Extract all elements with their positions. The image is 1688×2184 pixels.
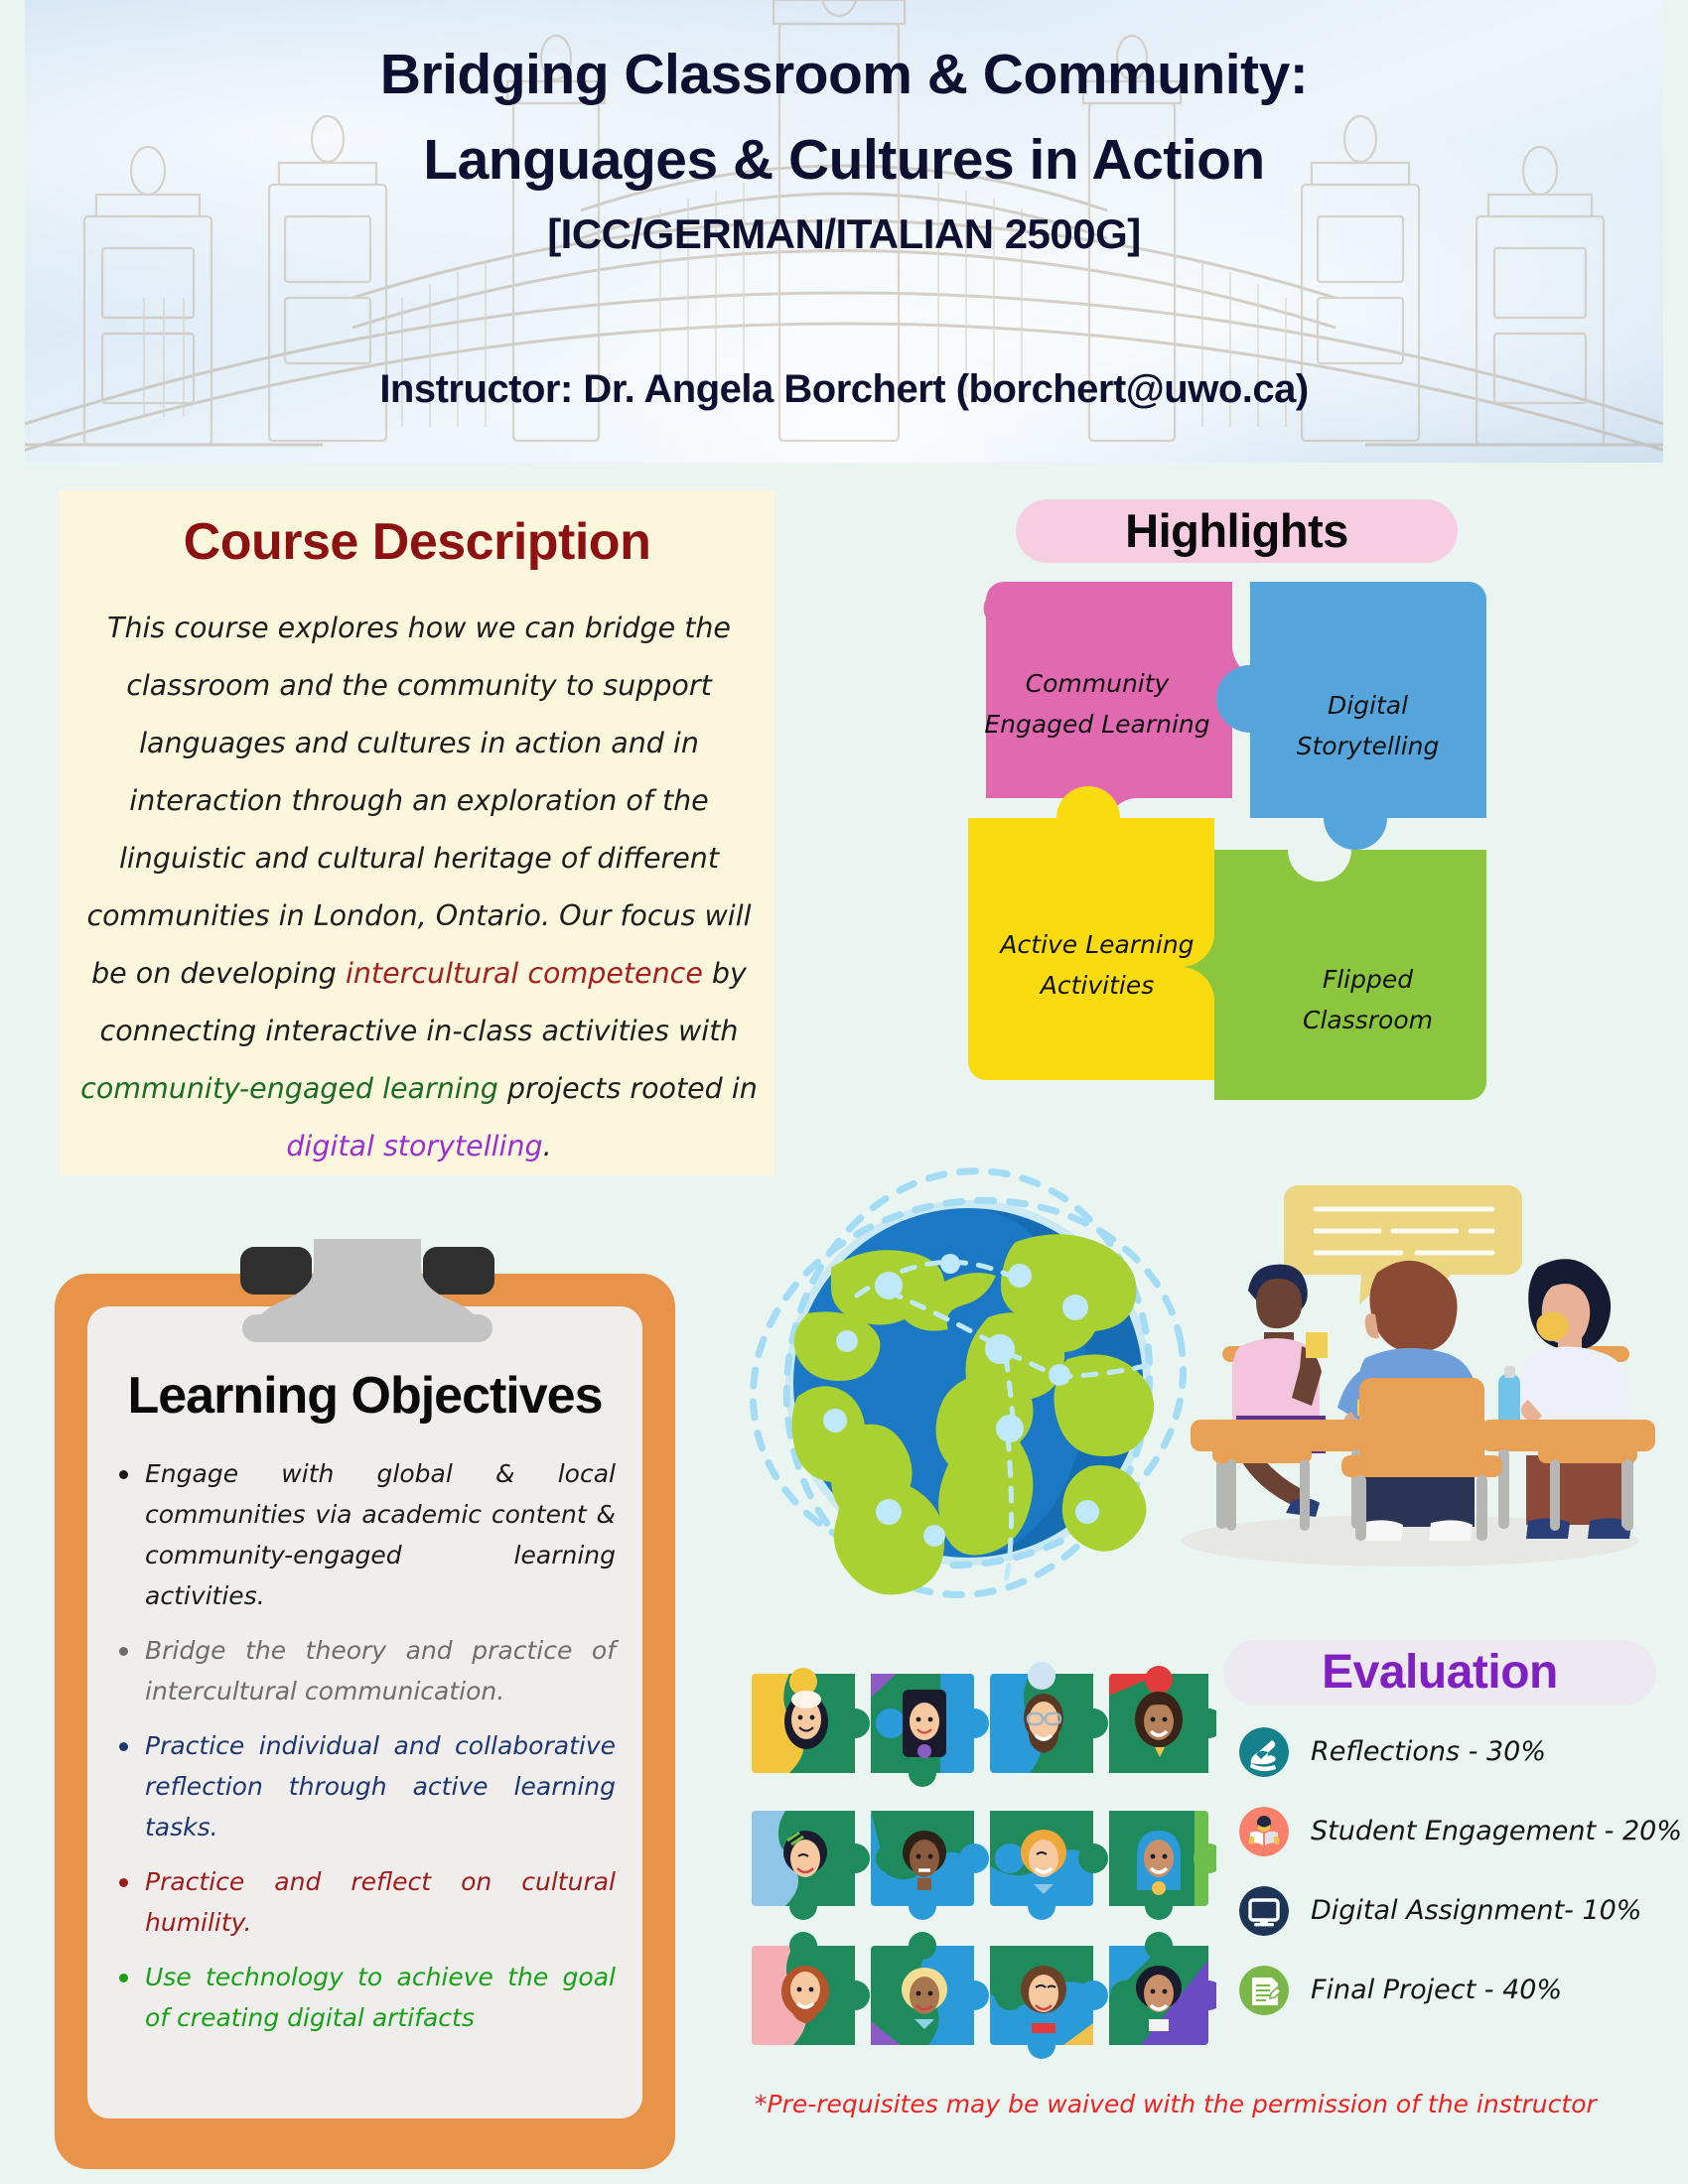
objective-item: Engage with global & local communities v… — [111, 1453, 616, 1616]
evaluation-label: Final Project - 40% — [1311, 1962, 1678, 2019]
evaluation-label: Digital Assignment- 10% — [1311, 1882, 1678, 1940]
course-description-title: Course Description — [60, 512, 774, 572]
writing-hand-icon — [1239, 1727, 1289, 1777]
poster-title-line-2: Languages & Cultures in Action — [25, 127, 1663, 193]
clipboard-clip-icon — [228, 1239, 506, 1343]
course-code: [ICC/GERMAN/ITALIAN 2500G] — [25, 210, 1663, 258]
course-poster: Bridging Classroom & Community: Language… — [0, 0, 1688, 2184]
clipboard-paper: Learning Objectives Engage with global &… — [87, 1306, 642, 2118]
objective-item: Bridge the theory and practice of interc… — [111, 1630, 616, 1711]
highlight-community-engaged-learning: community-engaged learning — [80, 1072, 498, 1105]
course-description-body: This course explores how we can bridge t… — [71, 600, 767, 1175]
objective-item: Practice and reflect on cultural humilit… — [111, 1861, 616, 1943]
evaluation-label: Student Engagement - 20% — [1311, 1803, 1678, 1860]
description-paragraph-2-d: . — [543, 1130, 552, 1162]
evaluation-row: Reflections - 30% — [1239, 1723, 1676, 1797]
evaluation-row: Student Engagement - 20% — [1239, 1803, 1676, 1876]
evaluation-label: Reflections - 30% — [1311, 1723, 1678, 1781]
monitor-icon — [1239, 1886, 1289, 1936]
puzzle-label-flipped-classroom: Flipped Classroom — [1256, 959, 1479, 1040]
evaluation-row: Digital Assignment- 10% — [1239, 1882, 1676, 1956]
highlights-puzzle: Community Engaged Learning Digital Story… — [968, 582, 1504, 1118]
highlights-title-pill: Highlights — [1016, 499, 1458, 563]
reading-person-icon — [1239, 1807, 1289, 1856]
evaluation-title: Evaluation — [1223, 1640, 1656, 1706]
learning-objectives-list: Engage with global & local communities v… — [111, 1453, 616, 2052]
objective-item: Use technology to achieve the goal of cr… — [111, 1957, 616, 2038]
learning-objectives-clipboard: Learning Objectives Engage with global &… — [55, 1274, 675, 2169]
prerequisite-footnote: *Pre-requisites may be waived with the p… — [755, 2090, 1658, 2118]
highlights-title: Highlights — [1016, 499, 1458, 563]
description-paragraph-1: This course explores how we can bridge t… — [86, 612, 731, 932]
puzzle-label-digital-storytelling: Digital Storytelling — [1256, 685, 1479, 766]
course-description-card: Course Description This course explores … — [60, 490, 774, 1175]
poster-header: Bridging Classroom & Community: Language… — [25, 0, 1663, 463]
evaluation-row: Final Project - 40% — [1239, 1962, 1676, 2035]
evaluation-list: Reflections - 30% Student Engagement - 2… — [1239, 1723, 1676, 2041]
document-icon — [1239, 1966, 1289, 2015]
objective-item: Practice individual and collaborative re… — [111, 1725, 616, 1847]
poster-title-line-1: Bridging Classroom & Community: — [25, 42, 1663, 107]
person-left — [1232, 1265, 1328, 1517]
description-paragraph-2-c: projects rooted in — [498, 1072, 758, 1105]
evaluation-title-pill: Evaluation — [1223, 1640, 1656, 1706]
instructor-line: Instructor: Dr. Angela Borchert (borcher… — [25, 367, 1663, 412]
puzzle-label-active-learning-activities: Active Learning Activities — [983, 924, 1211, 1006]
learning-objectives-title: Learning Objectives — [87, 1366, 642, 1426]
person-right — [1512, 1259, 1633, 1539]
highlight-digital-storytelling: digital storytelling — [286, 1130, 542, 1162]
globe-illustration — [740, 1147, 1196, 1613]
highlight-intercultural-competence: intercultural competence — [346, 957, 703, 990]
puzzle-label-community-engaged-learning: Community Engaged Learning — [983, 663, 1211, 745]
people-at-table-illustration — [1157, 1152, 1663, 1569]
diverse-faces-puzzle-illustration — [740, 1660, 1216, 2067]
